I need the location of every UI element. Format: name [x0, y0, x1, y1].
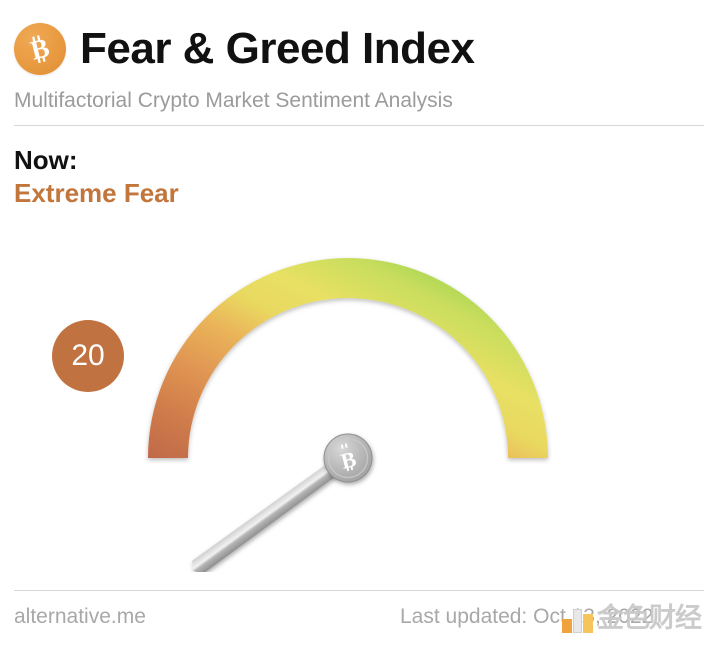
header: B Fear & Greed Index Multifactorial Cryp…: [14, 18, 704, 118]
page-subtitle: Multifactorial Crypto Market Sentiment A…: [14, 90, 704, 111]
gauge-hub: B: [324, 434, 372, 482]
status-now-label: Now:: [14, 146, 179, 175]
header-divider: [14, 125, 704, 126]
status-badge: Extreme Fear: [14, 179, 179, 208]
watermark: 金色财经: [562, 597, 701, 639]
footer-source[interactable]: alternative.me: [14, 606, 146, 627]
gauge-chart: B: [0, 222, 718, 572]
page-title: Fear & Greed Index: [80, 27, 474, 71]
bar-chart-icon: [562, 603, 594, 633]
status-block: Now: Extreme Fear: [14, 146, 179, 208]
brand-row: B Fear & Greed Index: [14, 18, 704, 80]
footer-divider: [14, 590, 704, 591]
gauge-arc: [148, 258, 548, 458]
watermark-text: 金色财经: [597, 605, 701, 632]
fear-greed-index-widget: B Fear & Greed Index Multifactorial Cryp…: [0, 0, 718, 646]
bitcoin-icon: B: [14, 23, 66, 75]
gauge-value-badge: 20: [52, 320, 124, 392]
